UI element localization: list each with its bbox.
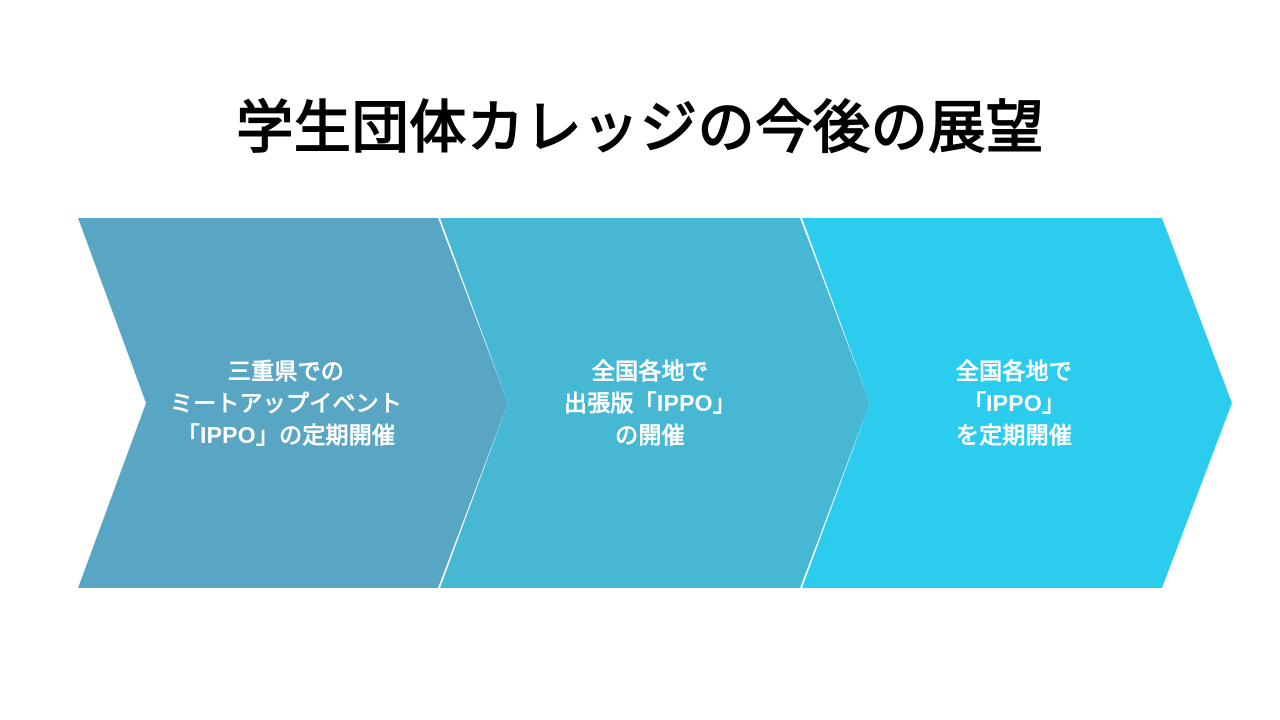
chevron-label-3: 全国各地で 「IPPO」 を定期開催 [802, 218, 1232, 588]
chevron-label-1-line-3: 「IPPO」の定期開催 [177, 419, 396, 451]
page-title: 学生団体カレッジの今後の展望 [0, 96, 1280, 162]
chevron-label-3-line-2: 「IPPO」 [963, 387, 1065, 419]
chevron-label-2-line-2: 出張版「IPPO」 [564, 387, 736, 419]
chevron-step-3[interactable]: 全国各地で 「IPPO」 を定期開催 [802, 218, 1232, 588]
slide: 学生団体カレッジの今後の展望 三重県での ミートアップイベント 「IPPO」の定… [0, 0, 1280, 720]
chevron-label-1-line-2: ミートアップイベント [170, 387, 402, 419]
chevron-label-2-line-1: 全国各地で [592, 355, 708, 387]
chevron-label-1-line-1: 三重県での [228, 355, 344, 387]
chevron-label-2-line-3: の開催 [615, 419, 685, 451]
chevron-label-3-line-3: を定期開催 [956, 419, 1072, 451]
chevron-process-diagram: 三重県での ミートアップイベント 「IPPO」の定期開催 全国各地で 出張版「I… [0, 218, 1280, 588]
chevron-label-3-line-1: 全国各地で [956, 355, 1072, 387]
